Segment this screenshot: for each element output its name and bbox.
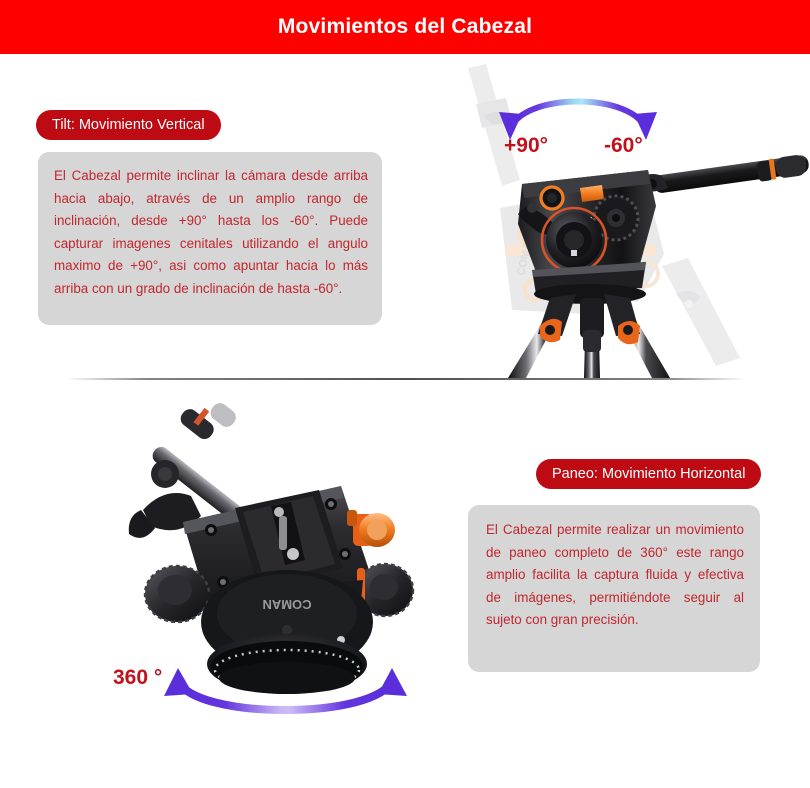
pan-handle-bar: [636, 154, 810, 194]
page-root: Movimientos del Cabezal: [0, 0, 810, 788]
left-tension-knob: [145, 566, 209, 622]
tilt-description-text: El Cabezal permite inclinar la cámara de…: [54, 165, 368, 300]
pan-description-card: El Cabezal permite realizar un movimient…: [468, 505, 760, 672]
brand-text-pan: COMAN: [262, 597, 311, 612]
pan-description-text: El Cabezal permite realizar un movimient…: [486, 519, 744, 632]
section-divider: [66, 378, 746, 380]
tripod-head-body: COMAN: [518, 170, 656, 272]
ghost-leg-right: [662, 258, 740, 366]
page-title: Movimientos del Cabezal: [278, 15, 532, 39]
pan-angle-label: 360 °: [113, 666, 162, 690]
tilt-description-card: El Cabezal permite inclinar la cámara de…: [38, 152, 382, 325]
badge-paneo: Paneo: Movimiento Horizontal: [536, 459, 761, 489]
badge-paneo-label: Paneo: Movimiento Horizontal: [552, 466, 745, 482]
badge-tilt: Tilt: Movimiento Vertical: [36, 110, 221, 140]
orange-counterbalance-knob: [347, 510, 395, 547]
tilt-angle-down-label: -60°: [604, 134, 643, 158]
header-banner: Movimientos del Cabezal: [0, 0, 810, 54]
pan-range-arrow: [160, 662, 410, 724]
badge-tilt-label: Tilt: Movimiento Vertical: [52, 117, 205, 133]
tilt-angle-up-label: +90°: [504, 134, 548, 158]
